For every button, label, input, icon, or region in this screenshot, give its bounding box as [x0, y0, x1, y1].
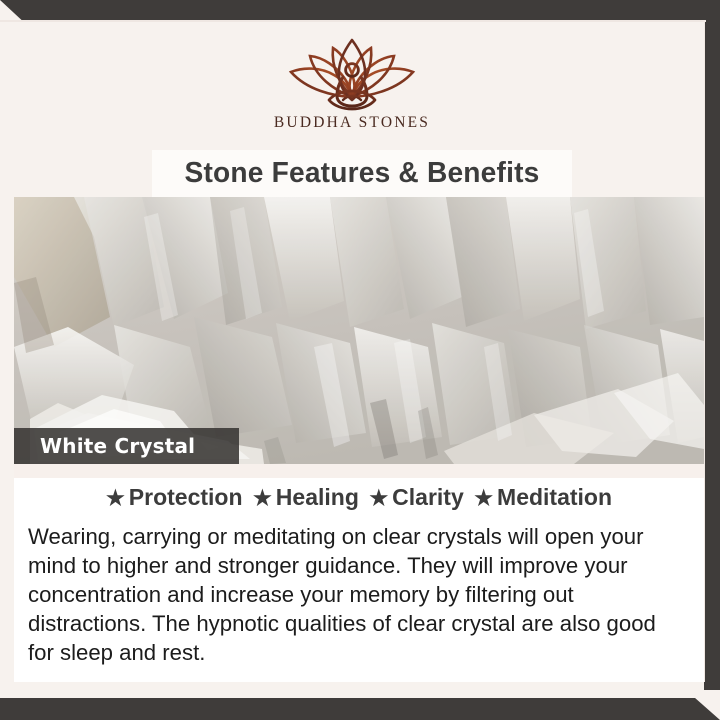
crystal-photo: [14, 197, 704, 464]
star-icon: ★: [253, 487, 272, 510]
page-bottom-strip: [14, 682, 704, 698]
photo-label-text: White Crystal: [14, 434, 195, 458]
content-panel: ★Protection ★Healing ★Clarity ★Meditatio…: [14, 464, 704, 698]
star-icon: ★: [369, 487, 388, 510]
page-surface: BUDDHA STONES Stone Features & Benefits: [0, 22, 704, 698]
photo-label-band: White Crystal: [14, 428, 239, 464]
panel-top-strip: [14, 464, 704, 478]
benefit-label: Clarity: [392, 484, 464, 510]
page-title: Stone Features & Benefits: [184, 157, 539, 190]
benefit-label: Meditation: [497, 484, 612, 510]
benefit-item-healing: ★Healing: [253, 484, 359, 511]
benefit-label: Healing: [276, 484, 359, 510]
benefit-item-meditation: ★Meditation: [474, 484, 612, 511]
lotus-meditation-icon: [277, 34, 427, 112]
brand-name: BUDDHA STONES: [0, 114, 704, 132]
brand-logo: BUDDHA STONES: [0, 34, 704, 132]
infographic-card: BUDDHA STONES Stone Features & Benefits: [0, 0, 720, 720]
benefit-item-protection: ★Protection: [106, 484, 243, 511]
frame-seam-top: [0, 20, 706, 22]
benefit-item-clarity: ★Clarity: [369, 484, 463, 511]
title-banner: Stone Features & Benefits: [152, 150, 572, 197]
description-paragraph: Wearing, carrying or meditating on clear…: [28, 522, 682, 667]
benefits-row: ★Protection ★Healing ★Clarity ★Meditatio…: [14, 484, 704, 511]
star-icon: ★: [474, 487, 493, 510]
star-icon: ★: [106, 487, 125, 510]
benefit-label: Protection: [129, 484, 243, 510]
